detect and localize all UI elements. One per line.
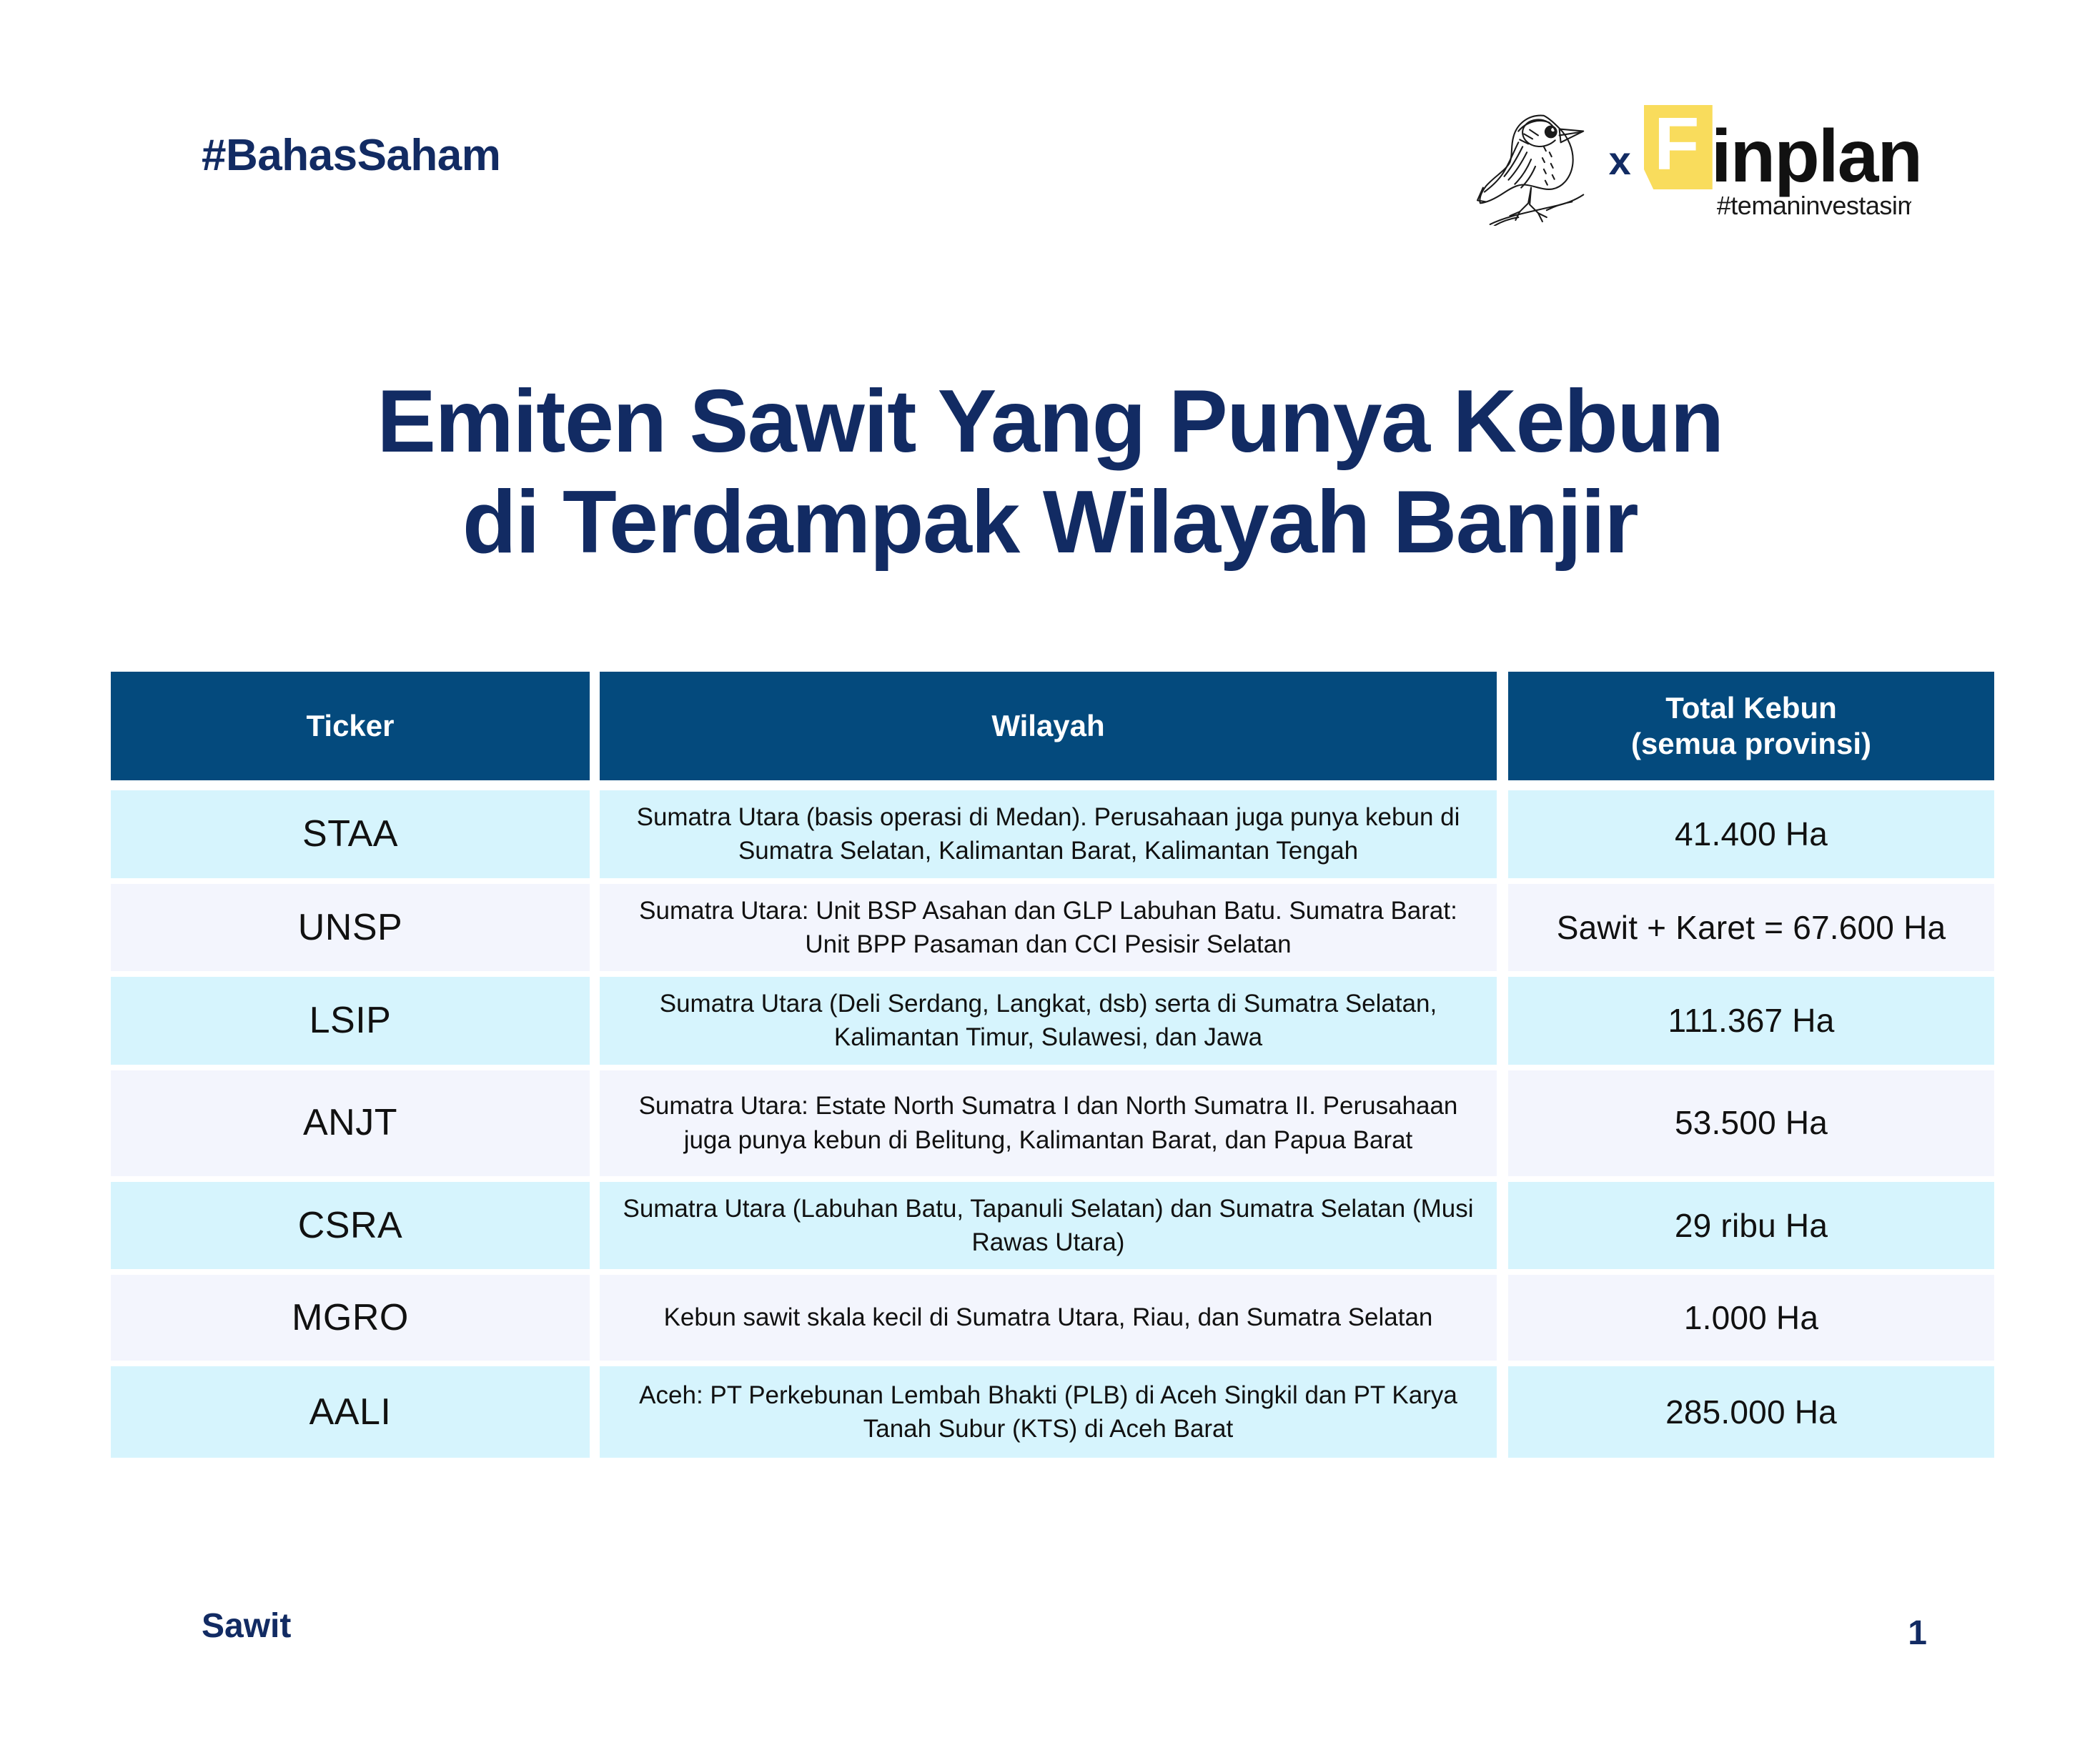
- cell-ticker: ANJT: [111, 1070, 590, 1176]
- column-header-total-kebun-main: Total Kebun: [1631, 690, 1871, 726]
- page-title: Emiten Sawit Yang Punya Kebun di Terdamp…: [0, 372, 2100, 574]
- cell-wilayah: Sumatra Utara: Estate North Sumatra I da…: [600, 1070, 1497, 1176]
- cell-total-kebun: 111.367 Ha: [1508, 977, 1994, 1065]
- column-header-ticker-label: Ticker: [307, 708, 395, 744]
- cell-total-kebun: 1.000 Ha: [1508, 1275, 1994, 1361]
- slide: #BahasSaham: [0, 0, 2100, 1760]
- table-row: MGRO Kebun sawit skala kecil di Sumatra …: [111, 1275, 1994, 1361]
- cell-wilayah: Aceh: PT Perkebunan Lembah Bhakti (PLB) …: [600, 1366, 1497, 1458]
- logo-x-separator: x: [1609, 141, 1631, 185]
- cell-ticker: AALI: [111, 1366, 590, 1458]
- column-header-wilayah: Wilayah: [600, 672, 1497, 780]
- table-row: AALI Aceh: PT Perkebunan Lembah Bhakti (…: [111, 1366, 1994, 1458]
- table-header-row: Ticker Wilayah Total Kebun (semua provin…: [111, 672, 1994, 780]
- bird-icon: [1476, 100, 1596, 226]
- brand-f-tile: F: [1644, 105, 1713, 189]
- brand-rest: inplan: [1711, 119, 1921, 194]
- column-header-ticker: Ticker: [111, 672, 590, 780]
- emiten-sawit-table: Ticker Wilayah Total Kebun (semua provin…: [111, 672, 1994, 1463]
- brand-initial: F: [1654, 107, 1700, 182]
- column-header-total-kebun-label: Total Kebun (semua provinsi): [1631, 690, 1871, 762]
- cell-ticker: UNSP: [111, 884, 590, 972]
- cell-total-kebun: 29 ribu Ha: [1508, 1182, 1994, 1270]
- table-row: ANJT Sumatra Utara: Estate North Sumatra…: [111, 1070, 1994, 1176]
- cell-wilayah: Sumatra Utara: Unit BSP Asahan dan GLP L…: [600, 884, 1497, 972]
- cell-total-kebun: 285.000 Ha: [1508, 1366, 1994, 1458]
- page-title-line-1: Emiten Sawit Yang Punya Kebun: [107, 372, 1993, 472]
- cell-wilayah: Sumatra Utara (Deli Serdang, Langkat, ds…: [600, 977, 1497, 1065]
- column-header-wilayah-label: Wilayah: [991, 708, 1104, 744]
- table-row: LSIP Sumatra Utara (Deli Serdang, Langka…: [111, 977, 1994, 1065]
- cell-ticker: STAA: [111, 790, 590, 878]
- page-number: 1: [1908, 1614, 1927, 1653]
- table-row: UNSP Sumatra Utara: Unit BSP Asahan dan …: [111, 884, 1994, 972]
- brand-wordmark: F inplan #temaninvestasimu: [1644, 105, 1921, 221]
- brand-word: F inplan: [1644, 105, 1921, 189]
- cell-total-kebun: 53.500 Ha: [1508, 1070, 1994, 1176]
- page-title-line-2: di Terdampak Wilayah Banjir: [107, 472, 1993, 573]
- cell-wilayah: Sumatra Utara (Labuhan Batu, Tapanuli Se…: [600, 1182, 1497, 1270]
- table-row: STAA Sumatra Utara (basis operasi di Med…: [111, 790, 1994, 878]
- cell-total-kebun: 41.400 Ha: [1508, 790, 1994, 878]
- column-header-total-kebun-sub: (semua provinsi): [1631, 726, 1871, 762]
- column-header-total-kebun: Total Kebun (semua provinsi): [1508, 672, 1994, 780]
- table-body: STAA Sumatra Utara (basis operasi di Med…: [111, 790, 1994, 1458]
- hashtag-label: #BahasSaham: [202, 130, 500, 181]
- footer-section-label: Sawit: [202, 1606, 291, 1646]
- cell-total-kebun: Sawit + Karet = 67.600 Ha: [1508, 884, 1994, 972]
- cell-ticker: CSRA: [111, 1182, 590, 1270]
- cell-ticker: LSIP: [111, 977, 590, 1065]
- cell-wilayah: Sumatra Utara (basis operasi di Medan). …: [600, 790, 1497, 878]
- brand-logo-lockup: x F inplan #temaninvestasimu: [1476, 100, 1921, 226]
- cell-wilayah: Kebun sawit skala kecil di Sumatra Utara…: [600, 1275, 1497, 1361]
- cell-ticker: MGRO: [111, 1275, 590, 1361]
- table-row: CSRA Sumatra Utara (Labuhan Batu, Tapanu…: [111, 1182, 1994, 1270]
